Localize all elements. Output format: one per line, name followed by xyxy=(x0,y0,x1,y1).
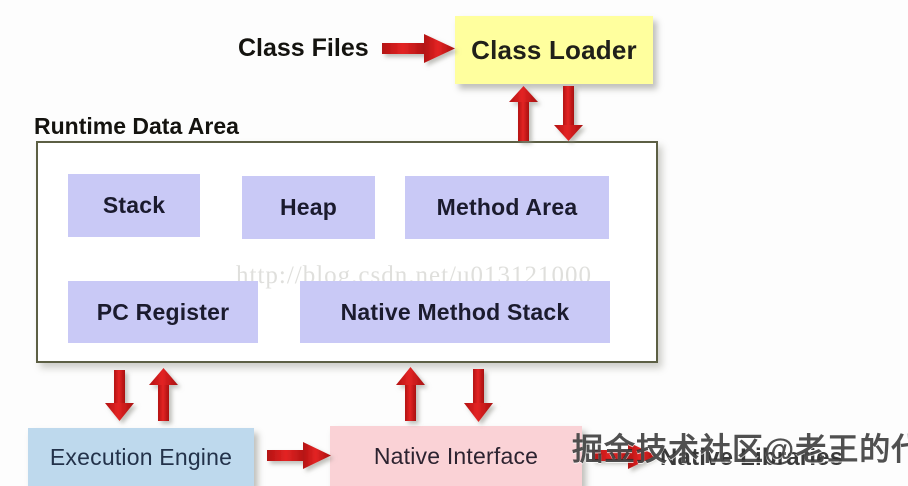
method-area-box: Method Area xyxy=(405,176,609,239)
arrow-class-files-to-class-loader xyxy=(382,34,455,63)
jvm-architecture-diagram: Class Files Class Loader Runtime Data Ar… xyxy=(0,0,908,486)
brand-watermark: 掘金技术社区@老王的代码 xyxy=(572,424,908,469)
arrow-runtime-to-execution-engine xyxy=(105,370,134,421)
heap-box: Heap xyxy=(242,176,375,239)
native-interface-label: Native Interface xyxy=(374,443,538,470)
execution-engine-label: Execution Engine xyxy=(50,444,232,471)
pc-register-box: PC Register xyxy=(68,281,258,343)
heap-label: Heap xyxy=(280,194,337,221)
stack-label: Stack xyxy=(103,192,165,219)
native-method-stack-label: Native Method Stack xyxy=(341,299,570,326)
pc-register-label: PC Register xyxy=(97,299,230,326)
arrow-runtime-to-native-interface xyxy=(464,369,493,422)
execution-engine-box: Execution Engine xyxy=(28,428,254,486)
native-interface-box: Native Interface xyxy=(330,426,582,486)
class-loader-box: Class Loader xyxy=(455,16,653,84)
arrow-class-loader-to-runtime xyxy=(554,86,583,141)
native-method-stack-box: Native Method Stack xyxy=(300,281,610,343)
runtime-data-area-label: Runtime Data Area xyxy=(34,113,239,140)
arrow-native-interface-to-runtime xyxy=(396,367,425,421)
class-files-label: Class Files xyxy=(238,34,369,63)
arrow-execution-engine-to-native-interface xyxy=(267,442,331,469)
method-area-label: Method Area xyxy=(437,194,578,221)
stack-box: Stack xyxy=(68,174,200,237)
arrow-execution-engine-to-runtime xyxy=(149,368,178,421)
arrow-runtime-to-class-loader xyxy=(509,86,538,141)
class-loader-label: Class Loader xyxy=(471,35,637,66)
